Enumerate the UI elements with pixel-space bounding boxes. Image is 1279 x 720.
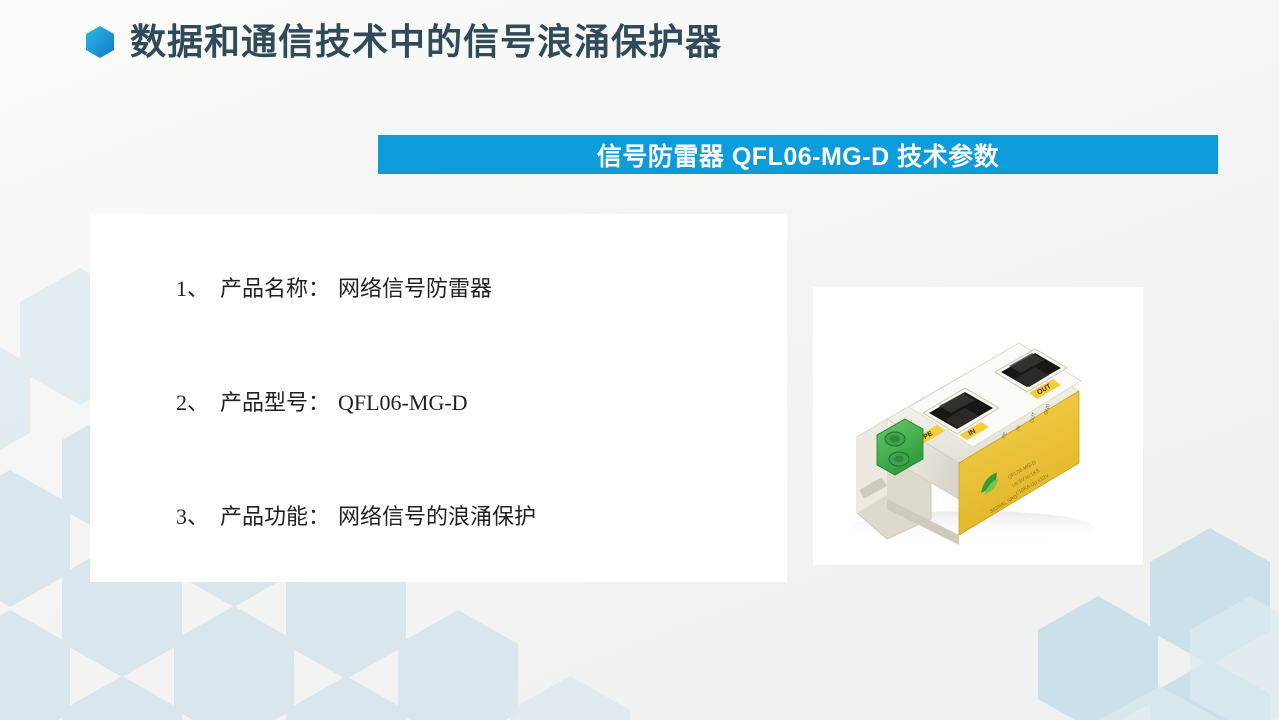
spec-label: 产品名称： [220, 270, 338, 308]
spec-value: 网络信号的浪涌保护 [338, 504, 536, 529]
slide-canvas: 数据和通信技术中的信号浪涌保护器 信号防雷器 QFL06-MG-D 技术参数 1… [0, 0, 1279, 720]
spec-label: 产品功能： [220, 498, 338, 536]
spec-index: 3、 [176, 498, 220, 536]
page-title-row: 数据和通信技术中的信号浪涌保护器 [86, 24, 722, 60]
page-title: 数据和通信技术中的信号浪涌保护器 [130, 24, 722, 60]
spec-line: 2、产品型号：QFL06-MG-D [132, 346, 777, 460]
product-photo: IN OUT PE [813, 287, 1143, 565]
specification-list: 1、产品名称：网络信号防雷器 2、产品型号：QFL06-MG-D 3、产品功能：… [132, 232, 777, 582]
specification-card: 1、产品名称：网络信号防雷器 2、产品型号：QFL06-MG-D 3、产品功能：… [90, 214, 787, 582]
section-banner-label: 信号防雷器 QFL06-MG-D 技术参数 [597, 137, 999, 173]
spec-index: 1、 [176, 270, 220, 308]
spec-index: 2、 [176, 384, 220, 422]
spec-value: QFL06-MG-D [338, 390, 468, 415]
spec-label: 产品型号： [220, 384, 338, 422]
hexagon-icon [86, 26, 114, 58]
spec-value: 网络信号防雷器 [338, 276, 492, 301]
spec-line: 1、产品名称：网络信号防雷器 [132, 232, 777, 346]
section-banner: 信号防雷器 QFL06-MG-D 技术参数 [378, 135, 1218, 174]
spec-line: 3、产品功能：网络信号的浪涌保护 [132, 460, 777, 574]
spec-line: 4、技术指标：最大持续运行电压 Uc：5V [132, 574, 777, 582]
product-photo-card: IN OUT PE [813, 287, 1143, 565]
